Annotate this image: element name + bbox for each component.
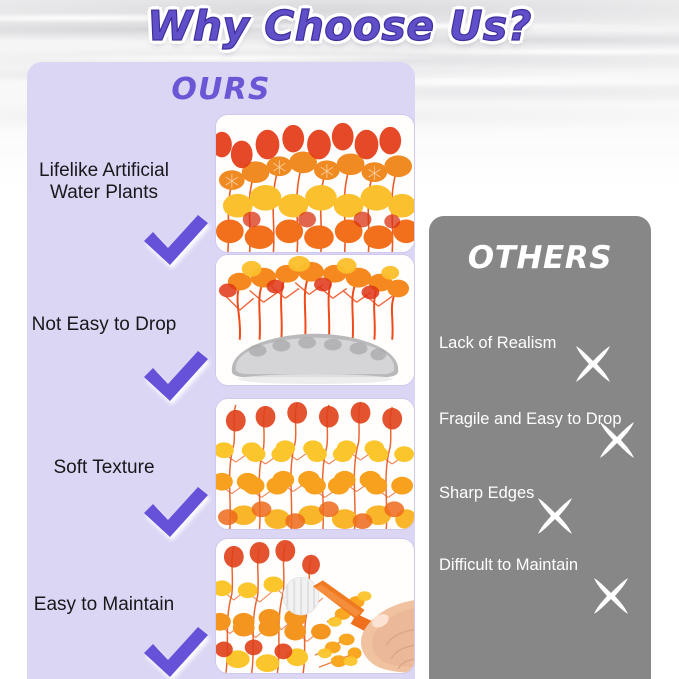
cross-mark-icon	[588, 574, 634, 618]
check-mark-icon	[140, 624, 212, 679]
others-label-3: Sharp Edges	[439, 484, 534, 503]
others-label-4: Difficult to Maintain	[439, 556, 578, 575]
others-label-1: Lack of Realism	[439, 334, 556, 353]
ours-label-1: Lifelike Artificial Water Plants	[8, 160, 200, 205]
photo-soft-foliage-closeup	[215, 398, 415, 530]
others-heading: OTHERS	[429, 240, 651, 276]
check-mark-icon	[140, 484, 212, 544]
photo-plants-on-weighted-base	[215, 254, 415, 386]
ours-label-2: Not Easy to Drop	[8, 314, 200, 336]
cross-mark-icon	[594, 418, 640, 462]
ours-label-4: Easy to Maintain	[8, 594, 200, 616]
photo-dense-orange-plants	[215, 114, 415, 253]
photo-hand-cleaning-plants	[215, 538, 415, 674]
infographic-root: Why Choose Us? OURS Lifelike Artificial …	[0, 0, 679, 679]
check-mark-icon	[140, 348, 212, 408]
cross-mark-icon	[570, 342, 616, 386]
ours-heading: OURS	[27, 72, 415, 107]
cross-mark-icon	[532, 494, 578, 538]
page-title: Why Choose Us?	[0, 2, 679, 50]
check-mark-icon	[140, 212, 212, 272]
ours-label-3: Soft Texture	[8, 457, 200, 479]
